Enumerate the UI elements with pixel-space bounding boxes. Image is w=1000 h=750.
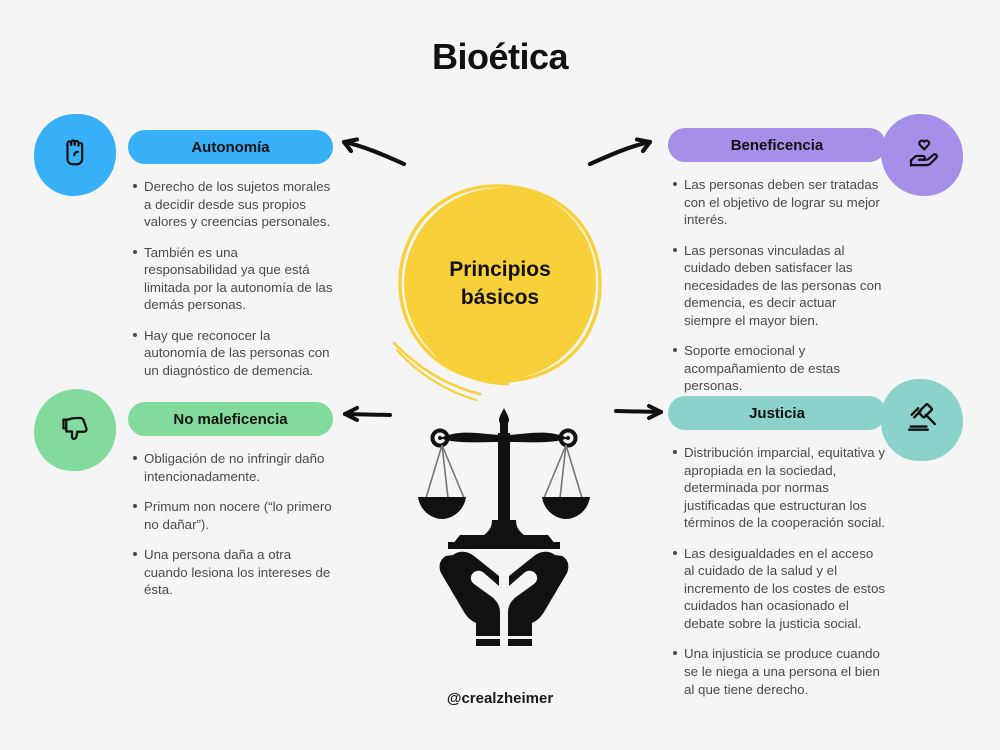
bullet-list-beneficencia: Las personas deben ser tratadas con el o… xyxy=(668,176,886,395)
block-beneficencia: Beneficencia Las personas deben ser trat… xyxy=(668,128,886,408)
author-handle: @crealzheimer xyxy=(0,690,1000,707)
center-node: Principios básicos xyxy=(388,178,618,403)
arrow-top-right xyxy=(586,134,658,168)
raised-fist-icon xyxy=(55,133,95,178)
badge-beneficencia xyxy=(881,114,963,196)
badge-nomaleficencia xyxy=(34,389,116,471)
center-label: Principios básicos xyxy=(449,256,551,313)
list-item: Distribución imparcial, equitativa y apr… xyxy=(684,444,886,532)
hand-heart-icon xyxy=(900,131,944,180)
list-item: Soporte emocional y acompañamiento de es… xyxy=(684,342,886,395)
heading-nomaleficencia: No maleficencia xyxy=(128,402,333,436)
list-item: Hay que reconocer la autonomía de las pe… xyxy=(144,327,333,380)
scales-of-justice-in-hands-icon xyxy=(404,398,604,648)
heading-autonomia: Autonomía xyxy=(128,130,333,164)
bullet-list-justicia: Distribución imparcial, equitativa y apr… xyxy=(668,444,886,698)
thumbs-down-icon xyxy=(54,407,96,454)
block-justicia: Justicia Distribución imparcial, equitat… xyxy=(668,396,886,711)
list-item: Una persona daña a otra cuando lesiona l… xyxy=(144,546,333,599)
arrow-mid-left xyxy=(340,403,394,425)
heading-justicia: Justicia xyxy=(668,396,886,430)
list-item: Derecho de los sujetos morales a decidir… xyxy=(144,178,333,231)
arrow-mid-right xyxy=(612,400,666,422)
infographic-canvas: Bioética Autonomía Derecho de los sujeto… xyxy=(0,0,1000,750)
badge-autonomia xyxy=(34,114,116,196)
list-item: Las personas deben ser tratadas con el o… xyxy=(684,176,886,229)
list-item: Las personas vinculadas al cuidado deben… xyxy=(684,242,886,330)
arrow-top-left xyxy=(336,134,408,168)
bullet-list-autonomia: Derecho de los sujetos morales a decidir… xyxy=(128,178,333,379)
badge-justicia xyxy=(881,379,963,461)
page-title: Bioética xyxy=(0,36,1000,78)
center-circle: Principios básicos xyxy=(404,188,596,380)
block-autonomia: Autonomía Derecho de los sujetos morales… xyxy=(128,130,333,392)
heading-beneficencia: Beneficencia xyxy=(668,128,886,162)
list-item: Obligación de no infringir daño intencio… xyxy=(144,450,333,485)
block-nomaleficencia: No maleficencia Obligación de no infring… xyxy=(128,402,333,612)
bullet-list-nomaleficencia: Obligación de no infringir daño intencio… xyxy=(128,450,333,599)
list-item: También es una responsabilidad ya que es… xyxy=(144,244,333,314)
list-item: Las desigualdades en el acceso al cuidad… xyxy=(684,545,886,633)
list-item: Primum non nocere (“lo primero no dañar”… xyxy=(144,498,333,533)
gavel-icon xyxy=(900,396,944,445)
